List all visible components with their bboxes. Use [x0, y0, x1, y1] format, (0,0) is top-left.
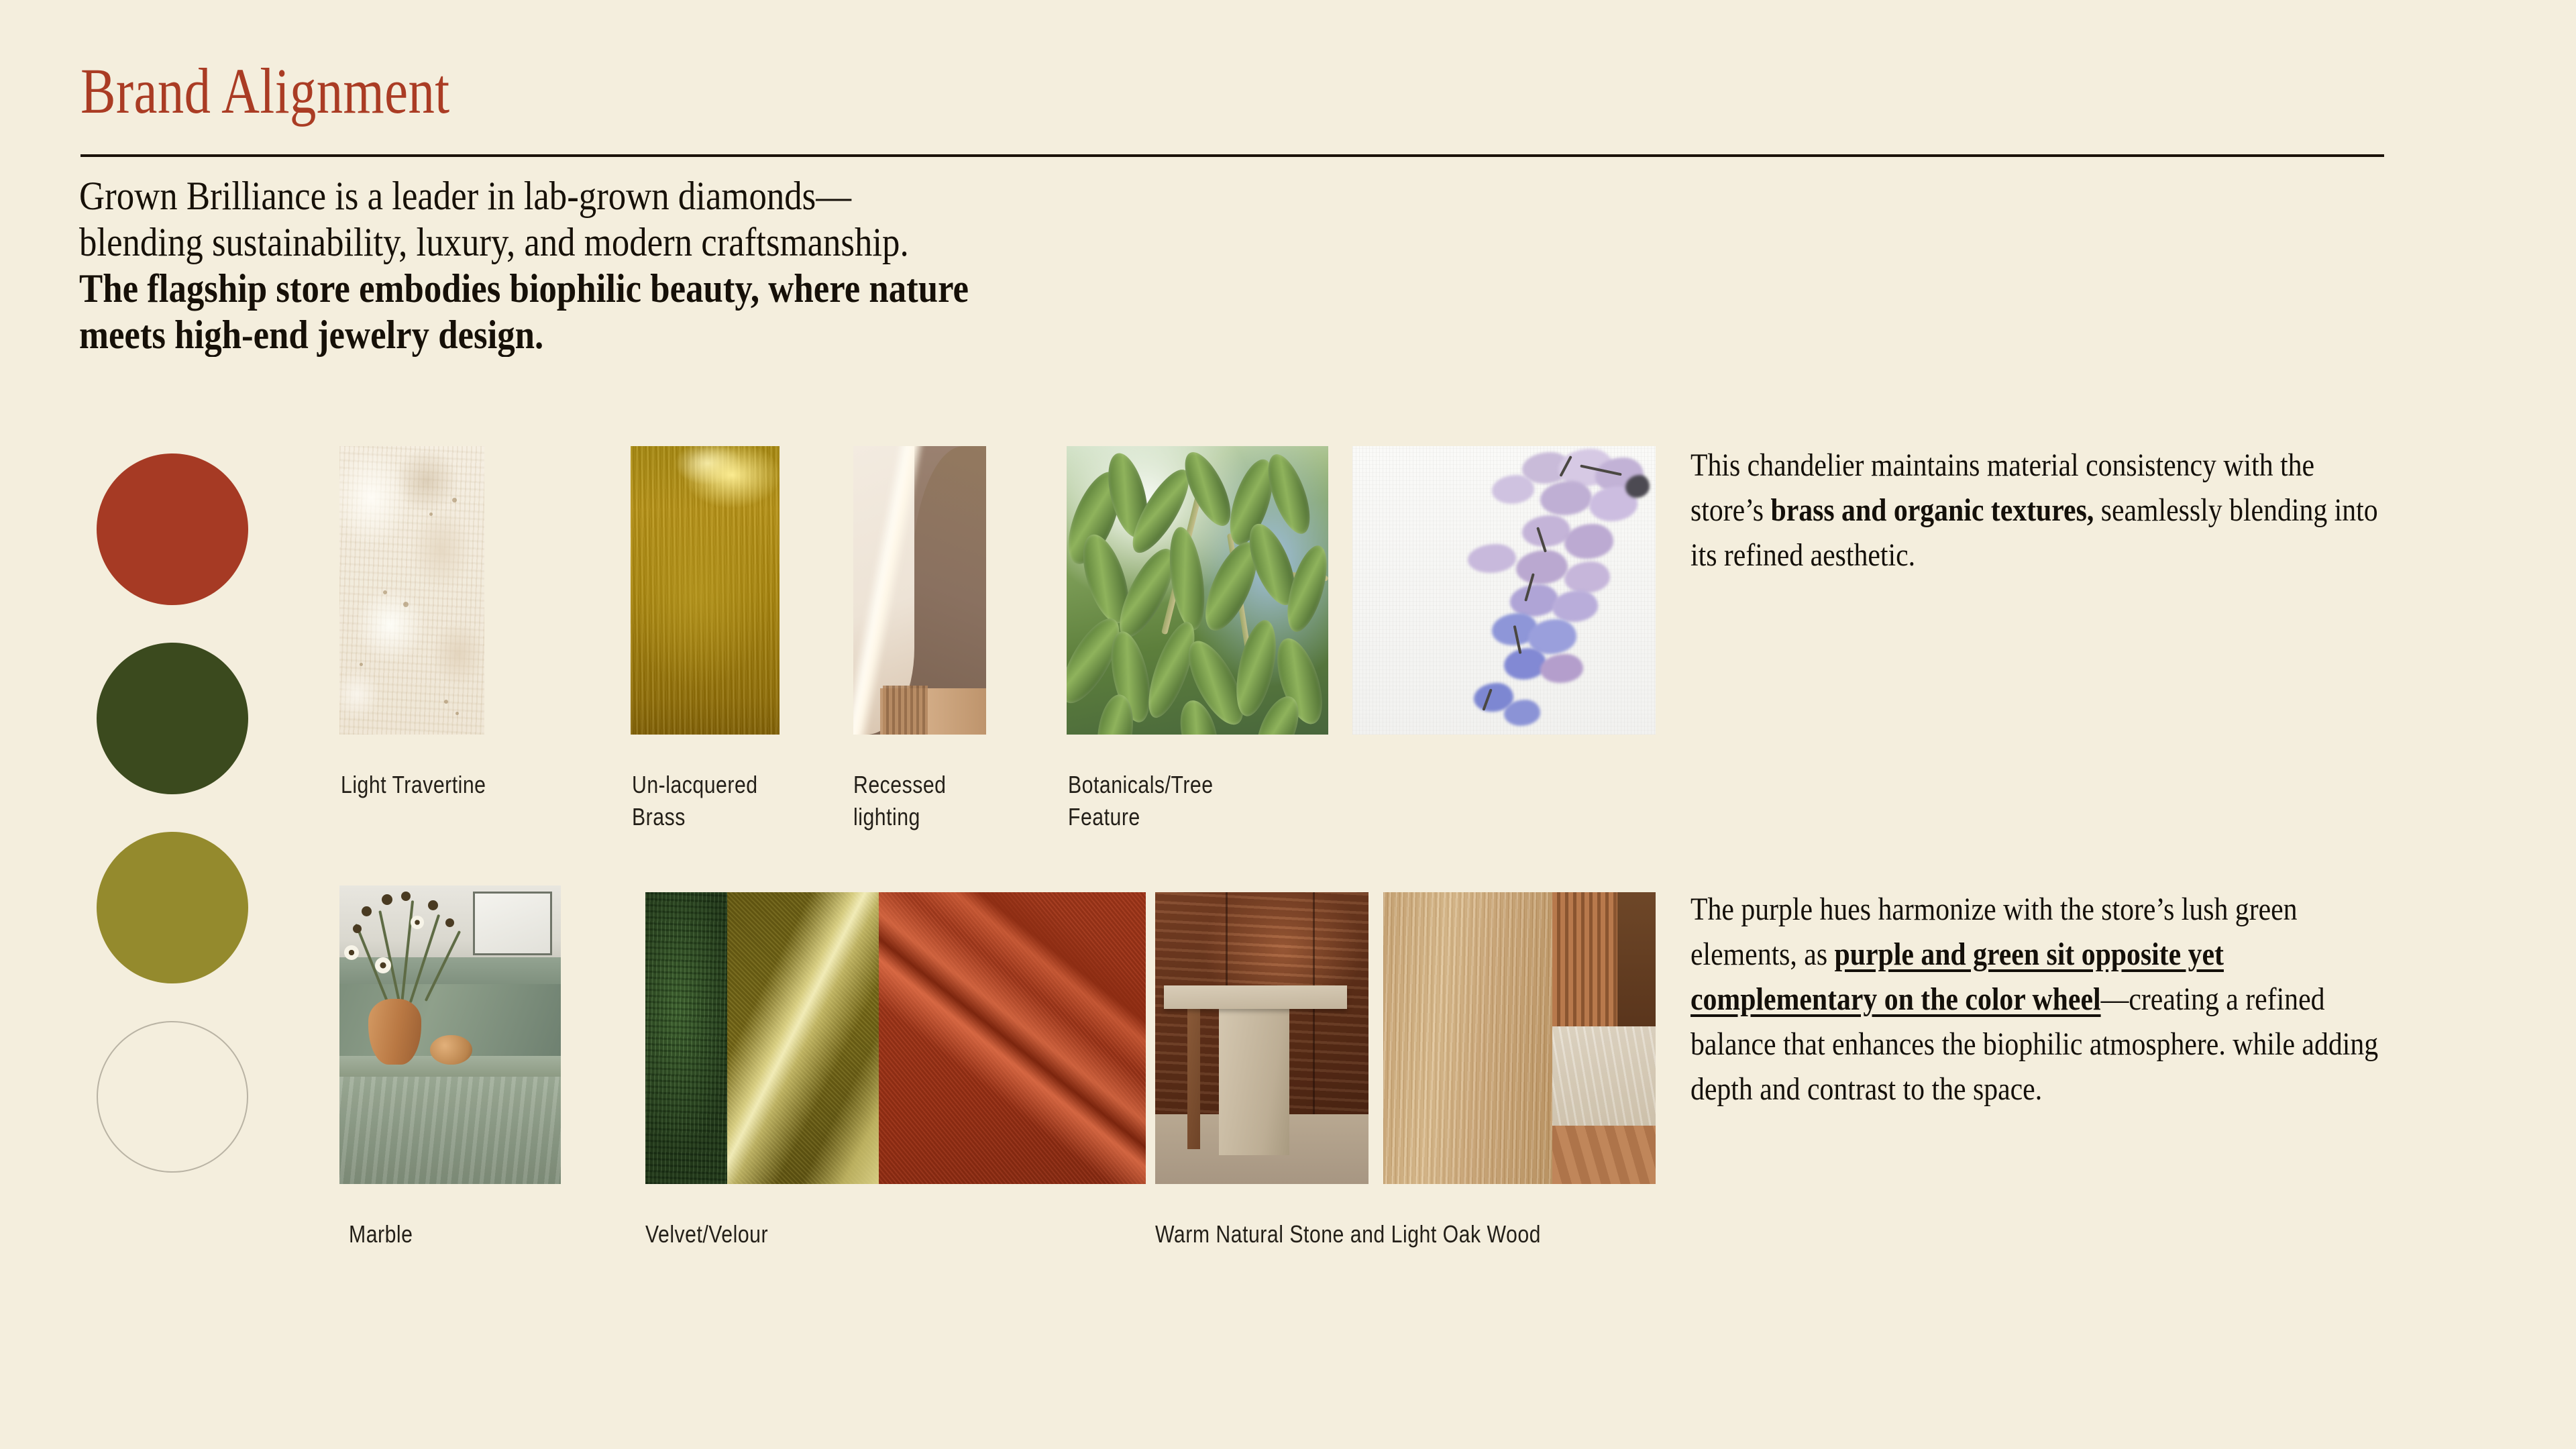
swatch-deep-olive-green[interactable]: [97, 643, 248, 794]
material-tile-marble[interactable]: [339, 885, 561, 1184]
material-tile-velvet-rust[interactable]: [879, 892, 1146, 1184]
swatch-mustard-olive[interactable]: [97, 832, 248, 983]
swatch-off-white[interactable]: [97, 1021, 248, 1173]
intro-line: The flagship store embodies biophilic be…: [79, 266, 1083, 312]
annotation-row-1: This chandelier maintains material consi…: [1690, 443, 2385, 578]
annotation-row-2: The purple hues harmonize with the store…: [1690, 887, 2385, 1112]
tile-label-marble: Marble: [349, 1218, 518, 1250]
cove-slats: [883, 686, 928, 735]
tile-label-velvet: Velvet/Velour: [645, 1218, 871, 1250]
tile-label-botanicals: Botanicals/Tree Feature: [1068, 769, 1232, 833]
intro-line: meets high-end jewelry design.: [79, 312, 1083, 358]
intro-line: blending sustainability, luxury, and mod…: [79, 219, 1083, 266]
material-tile-warm-stone[interactable]: [1155, 892, 1368, 1184]
swatch-terracotta[interactable]: [97, 453, 248, 605]
tile-label-warm-stone-oak: Warm Natural Stone and Light Oak Wood: [1155, 1218, 1662, 1250]
material-tile-velvet-green[interactable]: [645, 892, 727, 1184]
tile-label-brass: Un-lacquered Brass: [632, 769, 767, 833]
material-tile-botanicals[interactable]: [1067, 446, 1328, 735]
material-tile-recessed-lighting[interactable]: [853, 446, 986, 735]
material-tile-travertine[interactable]: [339, 446, 484, 735]
intro-line: Grown Brilliance is a leader in lab-grow…: [79, 173, 1083, 219]
annotation-text-bold: brass and organic textures,: [1770, 492, 2094, 528]
material-tile-light-oak[interactable]: [1383, 892, 1656, 1184]
color-palette: [97, 453, 251, 1210]
material-tile-wisteria[interactable]: [1352, 446, 1656, 735]
title-divider: [80, 154, 2384, 157]
tile-label-recessed-lighting: Recessed lighting: [853, 769, 966, 833]
tile-label-travertine: Light Travertine: [341, 769, 578, 801]
intro-paragraph: Grown Brilliance is a leader in lab-grow…: [79, 173, 1083, 358]
material-tile-velvet-olive[interactable]: [727, 892, 879, 1184]
page-title: Brand Alignment: [80, 59, 450, 123]
material-tile-brass[interactable]: [631, 446, 780, 735]
